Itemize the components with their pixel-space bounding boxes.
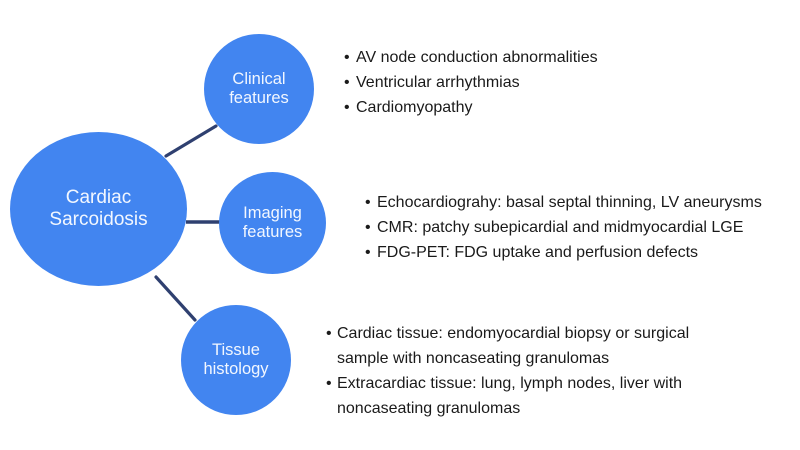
list-item-text: Extracardiac tissue: lung, lymph nodes, …	[337, 371, 726, 421]
list-item: • Ventricular arrhythmias	[344, 70, 764, 95]
node-histology-label: Tissue histology	[199, 341, 272, 380]
connector-root-to-clinical	[166, 126, 216, 156]
bullet-marker-icon: •	[344, 45, 356, 70]
bullet-marker-icon: •	[326, 371, 337, 396]
bullet-list-clinical-features: • AV node conduction abnormalities • Ven…	[344, 45, 764, 120]
list-item: • FDG-PET: FDG uptake and perfusion defe…	[365, 240, 790, 265]
list-item: • CMR: patchy subepicardial and midmyoca…	[365, 215, 790, 240]
node-root-label: Cardiac Sarcoidosis	[45, 187, 151, 232]
bullet-marker-icon: •	[326, 321, 337, 346]
list-item: • Extracardiac tissue: lung, lymph nodes…	[326, 371, 726, 421]
list-item: • AV node conduction abnormalities	[344, 45, 764, 70]
bullet-marker-icon: •	[365, 215, 377, 240]
node-cardiac-sarcoidosis[interactable]: Cardiac Sarcoidosis	[10, 132, 187, 286]
list-item-text: FDG-PET: FDG uptake and perfusion defect…	[377, 240, 790, 265]
bullet-marker-icon: •	[365, 190, 377, 215]
bullet-marker-icon: •	[365, 240, 377, 265]
list-item-text: Echocardiograhy: basal septal thinning, …	[377, 190, 790, 215]
bullet-list-imaging-features: • Echocardiograhy: basal septal thinning…	[365, 190, 790, 265]
list-item-text: Ventricular arrhythmias	[356, 70, 764, 95]
list-item-text: CMR: patchy subepicardial and midmyocard…	[377, 215, 790, 240]
list-item-text: Cardiac tissue: endomyocardial biopsy or…	[337, 321, 726, 371]
list-item-text: AV node conduction abnormalities	[356, 45, 764, 70]
node-clinical-features[interactable]: Clinical features	[204, 34, 314, 144]
list-item: • Echocardiograhy: basal septal thinning…	[365, 190, 790, 215]
connector-root-to-histology	[156, 277, 195, 320]
diagram-canvas: Cardiac Sarcoidosis Clinical features Im…	[0, 0, 800, 450]
bullet-marker-icon: •	[344, 95, 356, 120]
node-clinical-label: Clinical features	[225, 70, 293, 109]
list-item: • Cardiac tissue: endomyocardial biopsy …	[326, 321, 726, 371]
node-tissue-histology[interactable]: Tissue histology	[181, 305, 291, 415]
list-item: • Cardiomyopathy	[344, 95, 764, 120]
list-item-text: Cardiomyopathy	[356, 95, 764, 120]
bullet-marker-icon: •	[344, 70, 356, 95]
node-imaging-features[interactable]: Imaging features	[219, 172, 326, 274]
node-imaging-label: Imaging features	[239, 204, 307, 243]
bullet-list-tissue-histology: • Cardiac tissue: endomyocardial biopsy …	[326, 321, 726, 421]
